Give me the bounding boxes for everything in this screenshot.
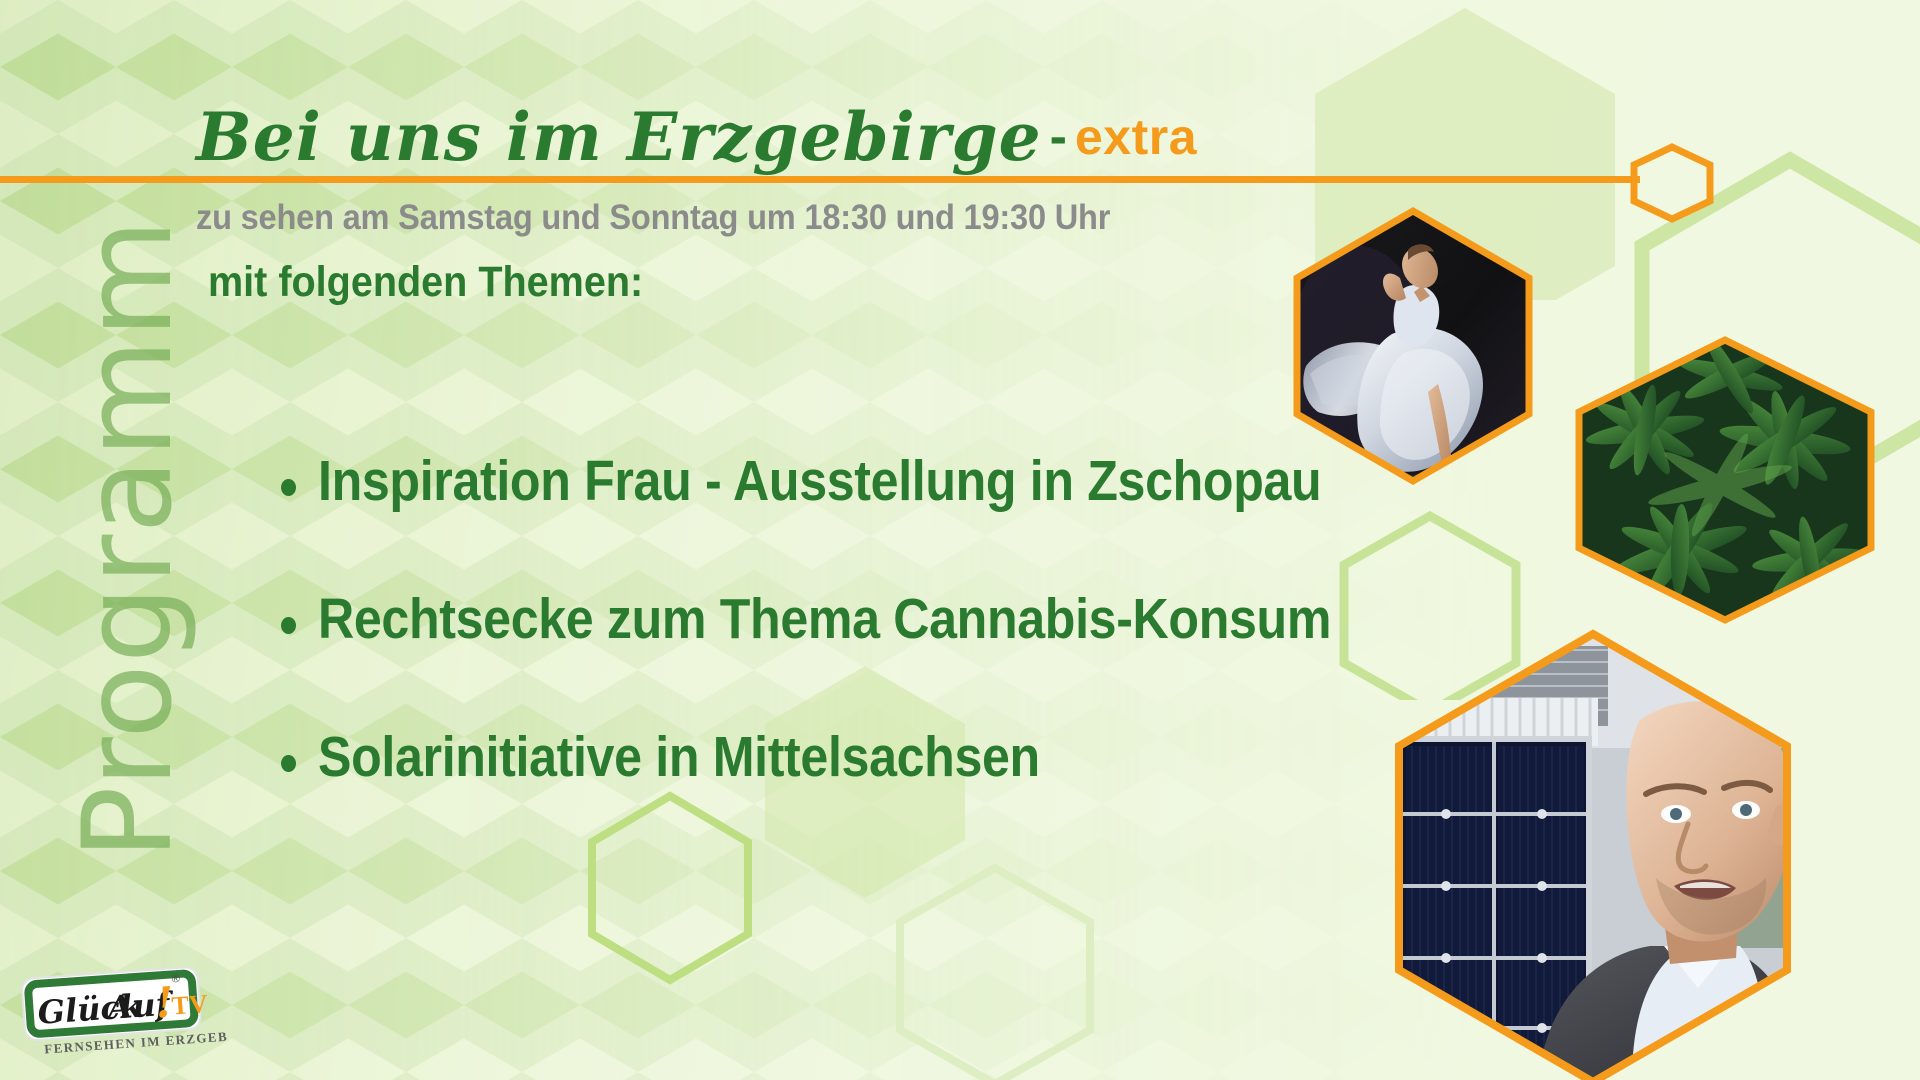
vertical-section-label: Programm bbox=[57, 189, 199, 889]
media-hex-cannabis bbox=[1570, 335, 1880, 625]
list-item-label: Inspiration Frau - Ausstellung in Zschop… bbox=[318, 449, 1321, 513]
list-item: Inspiration Frau - Ausstellung in Zschop… bbox=[318, 452, 1331, 512]
broadcast-slate: Programm Bei uns im Erzgebirge-extra zu … bbox=[0, 0, 1920, 1080]
bullet-icon bbox=[281, 755, 296, 772]
bullet-icon bbox=[281, 479, 296, 496]
logo-registered-mark: ® bbox=[171, 973, 180, 986]
media-hex-dancer bbox=[1288, 206, 1538, 486]
airtime-text: zu sehen am Samstag und Sonntag um 18:30… bbox=[196, 198, 1110, 238]
channel-logo[interactable]: Glück Auf ! ® TV FERNSEHEN IM ERZGEBIRGE bbox=[16, 962, 228, 1064]
page-title-dash: - bbox=[1042, 108, 1075, 166]
header-divider-rule bbox=[0, 176, 1640, 183]
deco-hex-outline-bottom bbox=[880, 860, 1110, 1080]
media-hex-solar-interview bbox=[1388, 628, 1798, 1080]
list-item: Rechtsecke zum Thema Cannabis-Konsum bbox=[318, 590, 1331, 650]
topics-heading: mit folgenden Themen: bbox=[208, 258, 643, 307]
topics-list: Inspiration Frau - Ausstellung in Zschop… bbox=[318, 452, 1469, 866]
list-item-label: Rechtsecke zum Thema Cannabis-Konsum bbox=[318, 587, 1331, 651]
list-item-label: Solarinitiative in Mittelsachsen bbox=[318, 725, 1040, 789]
list-item: Solarinitiative in Mittelsachsen bbox=[318, 728, 1331, 788]
divider-hex-icon bbox=[1626, 143, 1718, 223]
bullet-icon bbox=[281, 617, 296, 634]
page-title-extra: extra bbox=[1075, 109, 1197, 165]
page-title: Bei uns im Erzgebirge-extra bbox=[196, 104, 1197, 170]
logo-tv-label: TV bbox=[171, 989, 209, 1020]
page-title-script: Bei uns im Erzgebirge bbox=[196, 98, 1042, 176]
